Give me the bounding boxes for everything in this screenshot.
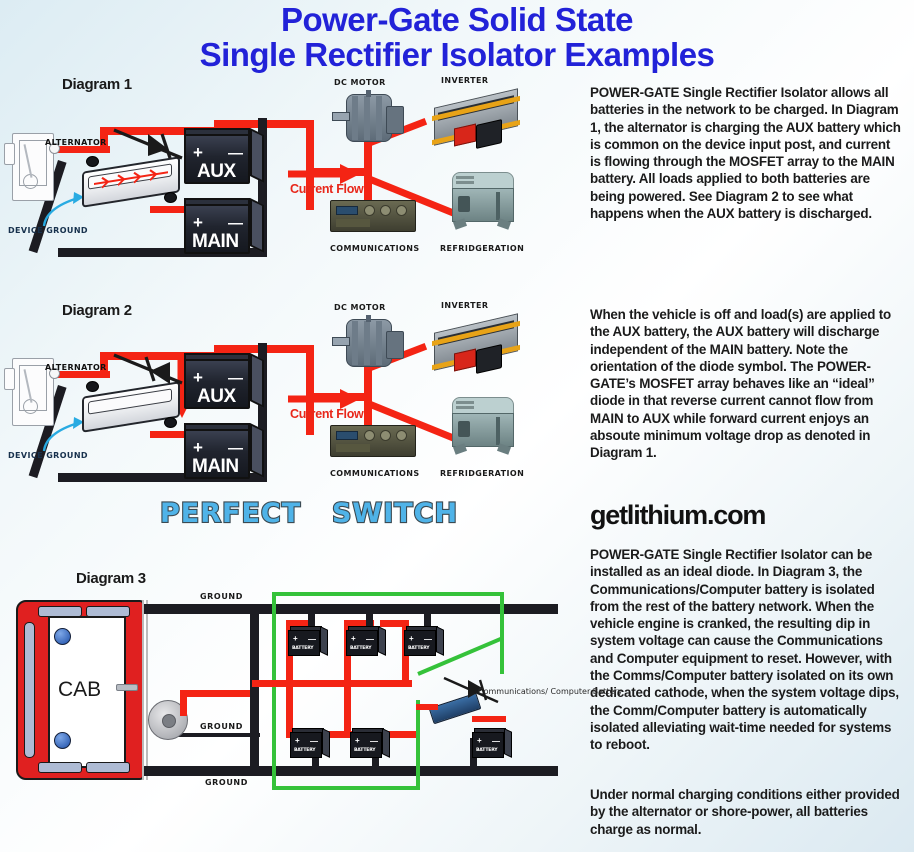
diagram-1-label: Diagram 1 <box>62 76 132 93</box>
title-line-2: Single Rectifier Isolator Examples <box>0 37 914 72</box>
alternator-label-d2: ALTERNATOR <box>45 363 107 372</box>
cab-bar-top-left <box>38 606 82 617</box>
refrigeration-icon-d2 <box>448 395 520 457</box>
current-flow-label-d2: Current Flow <box>290 407 363 421</box>
isolation-boundary-left <box>272 592 276 790</box>
cab-label: CAB <box>58 678 101 702</box>
refrigeration-label-d1: REFRIDGERATION <box>440 244 524 253</box>
website-link[interactable]: getlithium.com <box>590 500 902 531</box>
wire-black-d3-b3 <box>424 608 431 626</box>
comms-computer-battery-label: Communications/ Computer Battery <box>478 686 622 697</box>
battery-bank-1: + — BATTERY <box>288 626 332 660</box>
poster-canvas: Power-Gate Solid State Single Rectifier … <box>0 0 914 852</box>
cab-bar-top-right <box>86 606 130 617</box>
battery-aux-name-d1: AUX <box>197 161 236 183</box>
poster-title: Power-Gate Solid State Single Rectifier … <box>0 2 914 72</box>
description-paragraph-1: POWER-GATE Single Rectifier Isolator all… <box>590 84 902 222</box>
battery-main-name-d2: MAIN <box>192 456 239 478</box>
diode-symbol-d2 <box>112 349 188 391</box>
ground-rail-top <box>144 604 558 614</box>
dc-motor-icon-d2 <box>330 315 408 375</box>
isolation-boundary-inner <box>416 700 420 790</box>
battery-aux-d2: + — AUX <box>184 353 266 415</box>
battery-bank-3: + — BATTERY <box>404 626 448 660</box>
trailer-divider <box>142 600 148 780</box>
inverter-icon-d1 <box>424 92 524 154</box>
wire-red-d3-hbus <box>252 680 412 687</box>
perfect-switch-logo: PERFECT SWITCH <box>160 498 458 529</box>
battery-comms-computer: + — BATTERY <box>472 728 516 762</box>
wire-black-d3-b2 <box>366 608 373 626</box>
communications-icon-d2 <box>330 421 418 461</box>
cab-bar-left-side <box>24 622 35 758</box>
wire-black-d3-b1 <box>308 608 315 626</box>
current-flow-label-d1: Current Flow <box>290 182 363 196</box>
battery-bank-5: + — BATTERY <box>350 728 394 762</box>
isolator-post-output-d2 <box>164 417 177 428</box>
logo-word-switch: SWITCH <box>332 498 458 529</box>
logo-word-perfect: PERFECT <box>160 498 301 529</box>
description-paragraph-2: When the vehicle is off and load(s) are … <box>590 306 902 462</box>
ground-label-mid: GROUND <box>200 722 243 731</box>
isolator-post-output-d1 <box>164 192 177 203</box>
battery-aux-name-d2: AUX <box>197 386 236 408</box>
isolator-post-input-d2 <box>86 381 99 392</box>
ground-label-top: GROUND <box>200 592 243 601</box>
wire-red-d3-isoin <box>416 704 438 710</box>
alternator-label-d1: ALTERNATOR <box>45 138 107 147</box>
description-paragraph-3: POWER-GATE Single Rectifier Isolator can… <box>590 546 902 754</box>
diode-symbol-d1 <box>112 124 188 166</box>
battery-main-d2: + — MAIN <box>184 423 266 485</box>
battery-main-d1: + — MAIN <box>184 198 266 260</box>
description-paragraph-4: Under normal charging conditions either … <box>590 786 902 838</box>
alternator-pulley-d2 <box>4 368 15 390</box>
ground-rail-bottom <box>144 766 558 776</box>
battery-bank-2: + — BATTERY <box>346 626 390 660</box>
ground-label-bottom: GROUND <box>205 778 248 787</box>
wire-red-d3-altbus <box>180 690 252 697</box>
battery-main-name-d1: MAIN <box>192 231 239 253</box>
dc-motor-icon-d1 <box>330 90 408 150</box>
title-line-1: Power-Gate Solid State <box>0 2 914 37</box>
battery-bank-4: + — BATTERY <box>290 728 334 762</box>
diagram-3-label: Diagram 3 <box>76 570 146 587</box>
wire-black-d3-vert <box>250 604 259 776</box>
isolation-boundary-right <box>500 592 504 674</box>
isolation-boundary-bottom <box>272 786 420 790</box>
device-ground-label-d1: DEVICE GROUND <box>8 226 88 235</box>
device-ground-label-d2: DEVICE GROUND <box>8 451 88 460</box>
wire-red-d3-isoout <box>472 716 506 722</box>
dc-motor-label-d2: DC MOTOR <box>334 303 386 312</box>
isolator-post-input-d1 <box>86 156 99 167</box>
isolation-boundary-top <box>272 592 504 596</box>
cab-light-top <box>54 628 71 645</box>
battery-aux-d1: + — AUX <box>184 128 266 190</box>
alternator-pulley-d1 <box>4 143 15 165</box>
inverter-label-d2: INVERTER <box>441 301 488 310</box>
diagram-2-label: Diagram 2 <box>62 302 132 319</box>
communications-label-d1: COMMUNICATIONS <box>330 244 420 253</box>
refrigeration-icon-d1 <box>448 170 520 232</box>
inverter-label-d1: INVERTER <box>441 76 488 85</box>
cab-light-bottom <box>54 732 71 749</box>
cab-bar-bottom-left <box>38 762 82 773</box>
inverter-icon-d2 <box>424 317 524 379</box>
dc-motor-label-d1: DC MOTOR <box>334 78 386 87</box>
mirror-arm <box>116 684 138 691</box>
communications-label-d2: COMMUNICATIONS <box>330 469 420 478</box>
refrigeration-label-d2: REFRIDGERATION <box>440 469 524 478</box>
cab-bar-bottom-right <box>86 762 130 773</box>
communications-icon-d1 <box>330 196 418 236</box>
